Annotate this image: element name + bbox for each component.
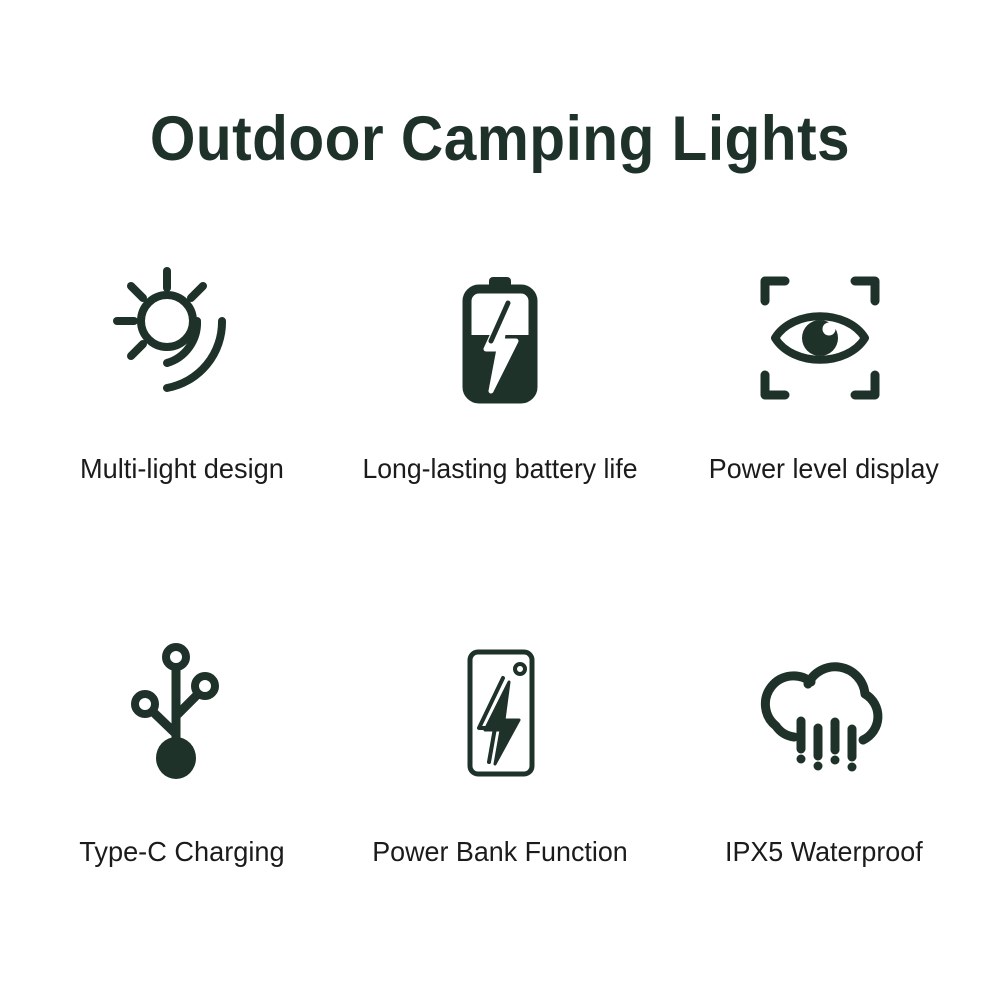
page-title: Outdoor Camping Lights <box>35 103 965 175</box>
feature-item-type-c-charging: Type-C Charging <box>20 635 340 935</box>
eye-focus-frame-icon <box>745 260 895 415</box>
feature-label: Multi-light design <box>27 452 337 486</box>
feature-label: Power level display <box>670 452 977 486</box>
power-bank-bolt-icon <box>425 635 575 790</box>
feature-grid: Multi-light design <box>0 250 1000 950</box>
feature-label: Long-lasting battery life <box>348 452 652 486</box>
rain-cloud-icon <box>745 635 895 790</box>
feature-label: Type-C Charging <box>27 835 337 869</box>
feature-label: IPX5 Waterproof <box>670 835 977 869</box>
feature-row-top: Multi-light design <box>0 260 1000 560</box>
feature-poster: Outdoor Camping Lights <box>0 0 1000 1000</box>
feature-item-ipx5-waterproof: IPX5 Waterproof <box>660 635 980 935</box>
feature-row-bottom: Type-C Charging Power Bank Function <box>0 635 1000 935</box>
feature-item-power-bank-function: Power Bank Function <box>340 635 660 935</box>
battery-bolt-icon <box>425 260 575 415</box>
feature-item-long-lasting-battery-life: Long-lasting battery life <box>340 260 660 560</box>
sun-waves-icon <box>105 260 255 415</box>
usb-trident-icon <box>105 635 255 790</box>
feature-item-multi-light-design: Multi-light design <box>20 260 340 560</box>
feature-label: Power Bank Function <box>346 835 653 869</box>
feature-item-power-level-display: Power level display <box>660 260 980 560</box>
